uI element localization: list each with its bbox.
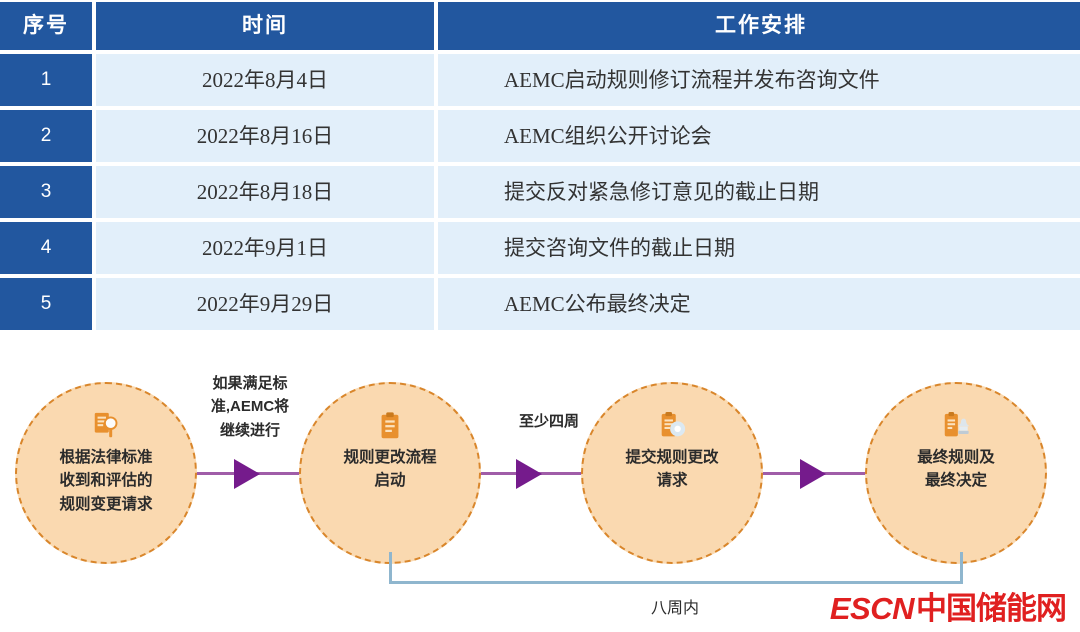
column-header-time: 时间 [96, 2, 434, 50]
cell-time: 2022年8月4日 [96, 54, 434, 106]
escn-logo: ESCN 中国储能网 [830, 583, 1066, 628]
table-row: 3 2022年8月18日 提交反对紧急修订意见的截止日期 [0, 166, 1080, 218]
cell-time: 2022年8月18日 [96, 166, 434, 218]
bracket-left-arm [389, 552, 392, 584]
flow-node-label: 根据法律标准 收到和评估的 规则变更请求 [59, 446, 152, 516]
arrow-right-icon [516, 459, 542, 489]
flow-node-process-start: 规则更改流程 启动 [299, 382, 481, 564]
cell-no: 4 [0, 222, 92, 274]
cell-work: 提交咨询文件的截止日期 [438, 222, 1080, 274]
bracket-right-arm [960, 552, 963, 584]
document-search-icon [91, 410, 121, 442]
cell-work: AEMC公布最终决定 [438, 278, 1080, 330]
cell-work: AEMC启动规则修订流程并发布咨询文件 [438, 54, 1080, 106]
cell-no: 1 [0, 54, 92, 106]
cell-work: 提交反对紧急修订意见的截止日期 [438, 166, 1080, 218]
flow-node-receive-request: 根据法律标准 收到和评估的 规则变更请求 [15, 382, 197, 564]
clipboard-gear-icon [657, 410, 687, 442]
column-header-work: 工作安排 [438, 2, 1080, 50]
flow-node-label: 提交规则更改 请求 [625, 446, 718, 493]
column-header-no: 序号 [0, 2, 92, 50]
connector-label-four-weeks: 至少四周 [489, 410, 609, 433]
schedule-table: 序号 时间 工作安排 1 2022年8月4日 AEMC启动规则修订流程并发布咨询… [0, 0, 1080, 334]
clipboard-stamp-icon [941, 410, 971, 442]
table-row: 5 2022年9月29日 AEMC公布最终决定 [0, 278, 1080, 330]
flow-node-final-decision: 最终规则及 最终决定 [865, 382, 1047, 564]
arrow-right-icon [234, 459, 260, 489]
cell-time: 2022年9月29日 [96, 278, 434, 330]
cell-time: 2022年9月1日 [96, 222, 434, 274]
cell-no: 3 [0, 166, 92, 218]
arrow-right-icon [800, 459, 826, 489]
table-row: 1 2022年8月4日 AEMC启动规则修订流程并发布咨询文件 [0, 54, 1080, 106]
flow-node-label: 规则更改流程 启动 [343, 446, 436, 493]
logo-text-en: ESCN [830, 591, 914, 627]
table-row: 4 2022年9月1日 提交咨询文件的截止日期 [0, 222, 1080, 274]
clipboard-icon [375, 410, 405, 442]
bracket-label-eight-weeks: 八周内 [600, 594, 750, 618]
flow-node-label: 最终规则及 最终决定 [917, 446, 995, 493]
cell-time: 2022年8月16日 [96, 110, 434, 162]
table-header-row: 序号 时间 工作安排 [0, 2, 1080, 50]
cell-work: AEMC组织公开讨论会 [438, 110, 1080, 162]
table-row: 2 2022年8月16日 AEMC组织公开讨论会 [0, 110, 1080, 162]
cell-no: 2 [0, 110, 92, 162]
cell-no: 5 [0, 278, 92, 330]
connector-label-criteria: 如果满足标 准,AEMC将 继续进行 [189, 372, 311, 442]
logo-text-cn: 中国储能网 [916, 583, 1066, 628]
